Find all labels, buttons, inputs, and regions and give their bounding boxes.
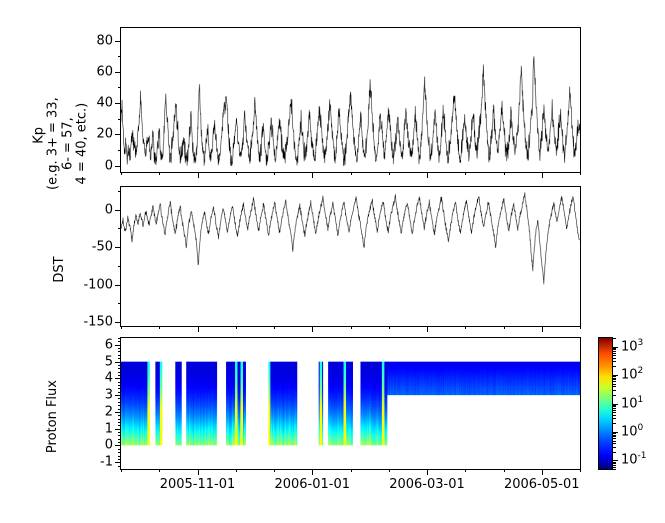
colorbar-minor-tick — [612, 386, 616, 387]
colorbar-minor-tick — [612, 452, 616, 453]
axis-minor-tick — [351, 172, 352, 175]
colorbar-minor-tick — [612, 408, 616, 409]
axis-major-tick — [115, 345, 121, 346]
colorbar-minor-tick — [612, 443, 616, 444]
colorbar-minor-tick — [612, 436, 616, 437]
axis-minor-tick — [159, 469, 160, 472]
axis-major-tick — [115, 247, 121, 248]
y-tick-label: 6 — [105, 338, 113, 351]
colorbar-minor-tick — [612, 412, 616, 413]
colorbar-minor-tick — [612, 467, 616, 468]
y-tick-label: 4 — [105, 372, 113, 385]
axis-minor-tick — [118, 402, 121, 403]
axis-minor-tick — [389, 172, 390, 175]
colorbar-tick-mantissa: 10 — [621, 339, 638, 354]
axis-minor-tick — [236, 172, 237, 175]
axis-minor-tick — [580, 469, 581, 472]
colorbar-tick-exponent: -1 — [638, 452, 647, 462]
kp-axis-title-text: Kp (e.g. 3+ = 33, 6- = 57, 4 = 40, etc.) — [31, 97, 90, 190]
colorbar-tick-label: 102 — [621, 369, 643, 382]
axis-minor-tick — [118, 372, 121, 373]
axis-major-tick — [115, 41, 121, 42]
axis-major-tick — [542, 326, 543, 332]
colorbar-minor-tick — [612, 349, 616, 350]
colorbar-tick-label: 100 — [621, 425, 643, 438]
axis-minor-tick — [118, 439, 121, 440]
colorbar-minor-tick — [612, 462, 616, 463]
axis-minor-tick — [118, 341, 121, 342]
colorbar-minor-tick — [612, 381, 616, 382]
axis-minor-tick — [389, 469, 390, 472]
colorbar-minor-tick — [612, 441, 616, 442]
axis-minor-tick — [118, 385, 121, 386]
colorbar-tick-label: 101 — [621, 397, 643, 410]
axis-major-tick — [198, 172, 199, 178]
axis-major-tick — [198, 326, 199, 332]
axis-minor-tick — [236, 326, 237, 329]
axis-minor-tick — [118, 466, 121, 467]
axis-minor-tick — [118, 228, 121, 229]
axis-major-tick — [427, 172, 428, 178]
dst-axis-title-text: DST — [52, 256, 67, 282]
colorbar-tick-mantissa: 10 — [621, 424, 638, 439]
colorbar-minor-tick — [612, 423, 616, 424]
axis-major-tick — [427, 469, 428, 475]
colorbar-tick-mantissa: 10 — [621, 396, 638, 411]
axis-minor-tick — [118, 266, 121, 267]
colorbar-minor-tick — [612, 355, 616, 356]
colorbar-minor-tick — [612, 390, 616, 391]
axis-major-tick — [115, 322, 121, 323]
colorbar-tick-mantissa: 10 — [621, 368, 638, 383]
axis-minor-tick — [236, 469, 237, 472]
axis-major-tick — [115, 395, 121, 396]
axis-minor-tick — [465, 172, 466, 175]
colorbar-tick-exponent: 1 — [638, 395, 644, 405]
axis-major-tick — [115, 210, 121, 211]
axis-major-tick — [198, 469, 199, 475]
axis-minor-tick — [118, 419, 121, 420]
axis-major-tick — [115, 285, 121, 286]
figure-canvas: 020406080 Kp (e.g. 3+ = 33, 6- = 57, 4 =… — [0, 0, 665, 523]
y-tick-label: 2 — [105, 405, 113, 418]
colorbar-major-tick — [612, 375, 618, 376]
axis-minor-tick — [580, 172, 581, 175]
y-tick-label: -100 — [83, 278, 113, 291]
axis-major-tick — [115, 445, 121, 446]
dst-line-plot — [121, 187, 580, 326]
axis-major-tick — [115, 103, 121, 104]
y-tick-label: -150 — [83, 316, 113, 329]
colorbar-tick-mantissa: 10 — [621, 453, 638, 468]
x-tick-label: 2006-03-01 — [389, 478, 465, 491]
proton-flux-axis-title-text: Proton Flux — [45, 380, 60, 453]
axis-minor-tick — [118, 392, 121, 393]
colorbar-tick-exponent: 3 — [638, 338, 644, 348]
axis-minor-tick — [118, 338, 121, 339]
axis-minor-tick — [118, 452, 121, 453]
colorbar-minor-tick — [612, 366, 616, 367]
axis-major-tick — [115, 362, 121, 363]
colorbar-minor-tick — [612, 351, 616, 352]
axis-major-tick — [115, 134, 121, 135]
y-tick-label: 80 — [96, 34, 113, 47]
axis-minor-tick — [118, 425, 121, 426]
colorbar-minor-tick — [612, 361, 616, 362]
y-tick-label: 5 — [105, 355, 113, 368]
colorbar-major-tick — [612, 347, 618, 348]
kp-axis-title: Kp (e.g. 3+ = 33, 6- = 57, 4 = 40, etc.) — [17, 59, 104, 229]
axis-major-tick — [312, 469, 313, 475]
colorbar-minor-tick — [612, 395, 616, 396]
axis-major-tick — [312, 326, 313, 332]
colorbar-minor-tick — [612, 469, 616, 470]
colorbar-minor-tick — [612, 358, 616, 359]
axis-major-tick — [115, 462, 121, 463]
axis-minor-tick — [118, 388, 121, 389]
axis-minor-tick — [118, 303, 121, 304]
x-tick-label: 2006-01-01 — [274, 478, 350, 491]
axis-minor-tick — [121, 172, 122, 175]
axis-minor-tick — [274, 326, 275, 329]
y-tick-label: -1 — [100, 456, 113, 469]
colorbar-minor-tick — [612, 348, 616, 349]
axis-minor-tick — [118, 422, 121, 423]
colorbar-minor-tick — [612, 415, 616, 416]
y-tick-label: -50 — [92, 241, 113, 254]
axis-major-tick — [115, 166, 121, 167]
colorbar-major-tick — [612, 460, 618, 461]
axis-major-tick — [312, 172, 313, 178]
axis-minor-tick — [351, 469, 352, 472]
colorbar-tick-label: 10-1 — [621, 454, 647, 467]
y-tick-label: 0 — [105, 159, 113, 172]
axis-minor-tick — [504, 469, 505, 472]
axis-major-tick — [427, 326, 428, 332]
colorbar-tick-exponent: 0 — [638, 423, 644, 433]
kp-line-plot — [121, 28, 580, 172]
axis-minor-tick — [118, 368, 121, 369]
colorbar-minor-tick — [612, 353, 616, 354]
y-tick-label: 3 — [105, 389, 113, 402]
axis-minor-tick — [118, 365, 121, 366]
axis-minor-tick — [121, 469, 122, 472]
x-tick-label: 2005-11-01 — [160, 478, 236, 491]
colorbar-major-tick — [612, 404, 618, 405]
kp-panel: 020406080 — [120, 27, 581, 173]
colorbar-minor-tick — [612, 379, 616, 380]
colorbar-minor-tick — [612, 418, 616, 419]
colorbar-minor-tick — [612, 376, 616, 377]
colorbar-minor-tick — [612, 410, 616, 411]
axis-minor-tick — [118, 405, 121, 406]
colorbar-tick-exponent: 2 — [638, 366, 644, 376]
colorbar-minor-tick — [612, 433, 616, 434]
axis-major-tick — [542, 172, 543, 178]
proton-flux-axis-title: Proton Flux — [31, 365, 75, 485]
axis-minor-tick — [274, 172, 275, 175]
dst-panel: -150-100-500 — [120, 186, 581, 327]
axis-minor-tick — [580, 326, 581, 329]
colorbar-minor-tick — [612, 463, 616, 464]
axis-minor-tick — [118, 456, 121, 457]
axis-minor-tick — [118, 119, 121, 120]
axis-minor-tick — [118, 415, 121, 416]
axis-minor-tick — [118, 432, 121, 433]
axis-minor-tick — [118, 348, 121, 349]
axis-minor-tick — [351, 326, 352, 329]
colorbar-minor-tick — [612, 438, 616, 439]
axis-minor-tick — [118, 459, 121, 460]
colorbar-minor-tick — [612, 435, 616, 436]
y-tick-label: 1 — [105, 422, 113, 435]
axis-minor-tick — [118, 382, 121, 383]
axis-minor-tick — [118, 150, 121, 151]
axis-minor-tick — [118, 351, 121, 352]
axis-minor-tick — [121, 326, 122, 329]
proton-flux-panel: -101234562005-11-012006-01-012006-03-012… — [120, 337, 581, 470]
x-tick-label: 2006-05-01 — [504, 478, 580, 491]
axis-minor-tick — [118, 398, 121, 399]
colorbar: 10-1100101102103 — [598, 337, 613, 470]
axis-minor-tick — [118, 449, 121, 450]
axis-minor-tick — [159, 326, 160, 329]
axis-major-tick — [542, 469, 543, 475]
axis-minor-tick — [118, 191, 121, 192]
axis-minor-tick — [465, 326, 466, 329]
axis-major-tick — [115, 429, 121, 430]
y-tick-label: 0 — [105, 439, 113, 452]
colorbar-minor-tick — [612, 406, 616, 407]
colorbar-minor-tick — [612, 338, 616, 339]
axis-major-tick — [115, 412, 121, 413]
axis-minor-tick — [118, 358, 121, 359]
colorbar-minor-tick — [612, 405, 616, 406]
axis-minor-tick — [118, 56, 121, 57]
axis-minor-tick — [118, 375, 121, 376]
colorbar-major-tick — [612, 432, 618, 433]
dst-axis-title: DST — [38, 238, 82, 318]
axis-minor-tick — [118, 409, 121, 410]
axis-major-tick — [115, 378, 121, 379]
y-tick-label: 0 — [105, 203, 113, 216]
colorbar-minor-tick — [612, 465, 616, 466]
colorbar-minor-tick — [612, 378, 616, 379]
colorbar-minor-tick — [612, 447, 616, 448]
axis-major-tick — [115, 72, 121, 73]
axis-minor-tick — [504, 172, 505, 175]
axis-minor-tick — [159, 172, 160, 175]
proton-flux-heatmap — [121, 338, 580, 469]
axis-minor-tick — [118, 442, 121, 443]
colorbar-minor-tick — [612, 384, 616, 385]
axis-minor-tick — [118, 87, 121, 88]
axis-minor-tick — [118, 435, 121, 436]
axis-minor-tick — [274, 469, 275, 472]
axis-minor-tick — [504, 326, 505, 329]
axis-minor-tick — [389, 326, 390, 329]
colorbar-tick-label: 103 — [621, 340, 643, 353]
axis-minor-tick — [465, 469, 466, 472]
axis-minor-tick — [118, 355, 121, 356]
